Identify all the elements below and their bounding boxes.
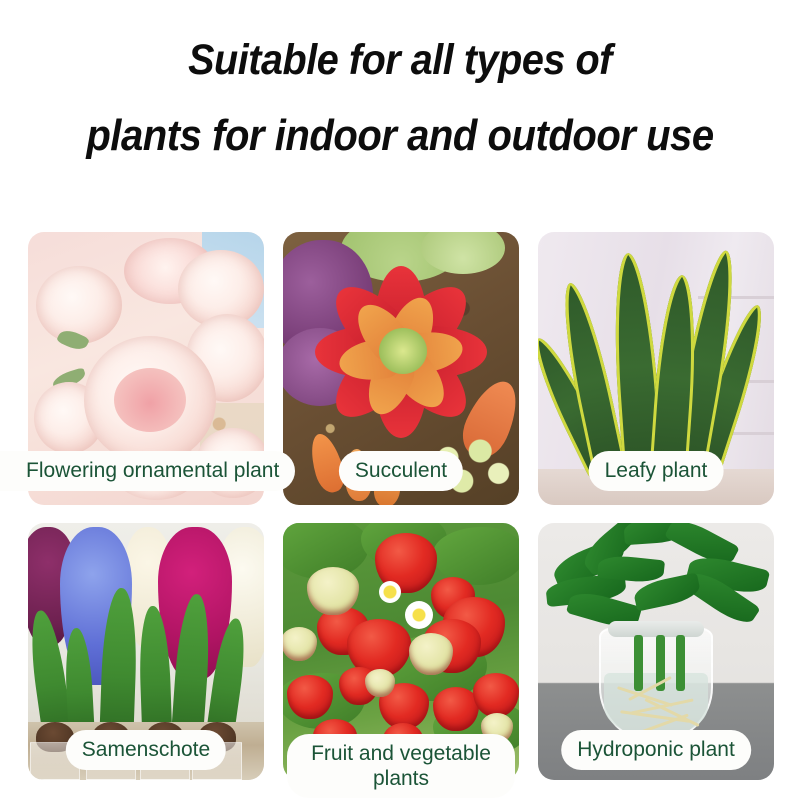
tile-label-flowering-ornamental-plant: Flowering ornamental plant	[0, 451, 295, 491]
rosette-core	[379, 328, 427, 374]
infographic-page: Suitable for all types of plants for ind…	[0, 0, 800, 800]
headline-line-2: plants for indoor and outdoor use	[32, 98, 768, 174]
tile-label-text: Leafy plant	[605, 458, 708, 484]
plant-type-grid: Flowering ornamental plant	[28, 232, 774, 780]
strawberry-flower	[379, 581, 401, 603]
tile-label-text: Succulent	[355, 458, 447, 484]
tile-label-text: Fruit and vegetable plants	[303, 741, 499, 791]
plant-tile-fruit-and-vegetable-plants[interactable]: Fruit and vegetable plants	[283, 523, 519, 780]
rose-bloom-main	[84, 336, 216, 464]
tile-label-text: Samenschote	[82, 737, 210, 763]
strawberry-unripe	[283, 627, 317, 661]
plant-tile-flowering-ornamental-plant[interactable]: Flowering ornamental plant	[28, 232, 264, 505]
tile-label-leafy-plant: Leafy plant	[589, 451, 724, 491]
bamboo-stem	[676, 635, 685, 691]
tile-label-fruit-and-vegetable-plants: Fruit and vegetable plants	[287, 734, 515, 798]
strawberry-flower	[405, 601, 433, 629]
plant-tile-succulent[interactable]: Succulent	[283, 232, 519, 505]
bamboo-stem	[634, 635, 643, 691]
plant-tile-leafy-plant[interactable]: Leafy plant	[538, 232, 774, 505]
tile-label-succulent: Succulent	[339, 451, 463, 491]
page-title: Suitable for all types of plants for ind…	[32, 22, 768, 174]
tile-label-hydroponic-plant: Hydroponic plant	[561, 730, 751, 770]
tile-label-text: Flowering ornamental plant	[26, 458, 279, 484]
rose-bloom	[36, 266, 122, 344]
tile-label-samenschote: Samenschote	[66, 730, 226, 770]
headline-line-1: Suitable for all types of	[32, 22, 768, 98]
tile-label-text: Hydroponic plant	[577, 737, 735, 763]
plant-tile-hydroponic-plant[interactable]: Hydroponic plant	[538, 523, 774, 780]
strawberry-leaf	[433, 527, 519, 585]
vase-neck	[608, 621, 704, 637]
plant-tile-samenschote[interactable]: Samenschote	[28, 523, 264, 780]
